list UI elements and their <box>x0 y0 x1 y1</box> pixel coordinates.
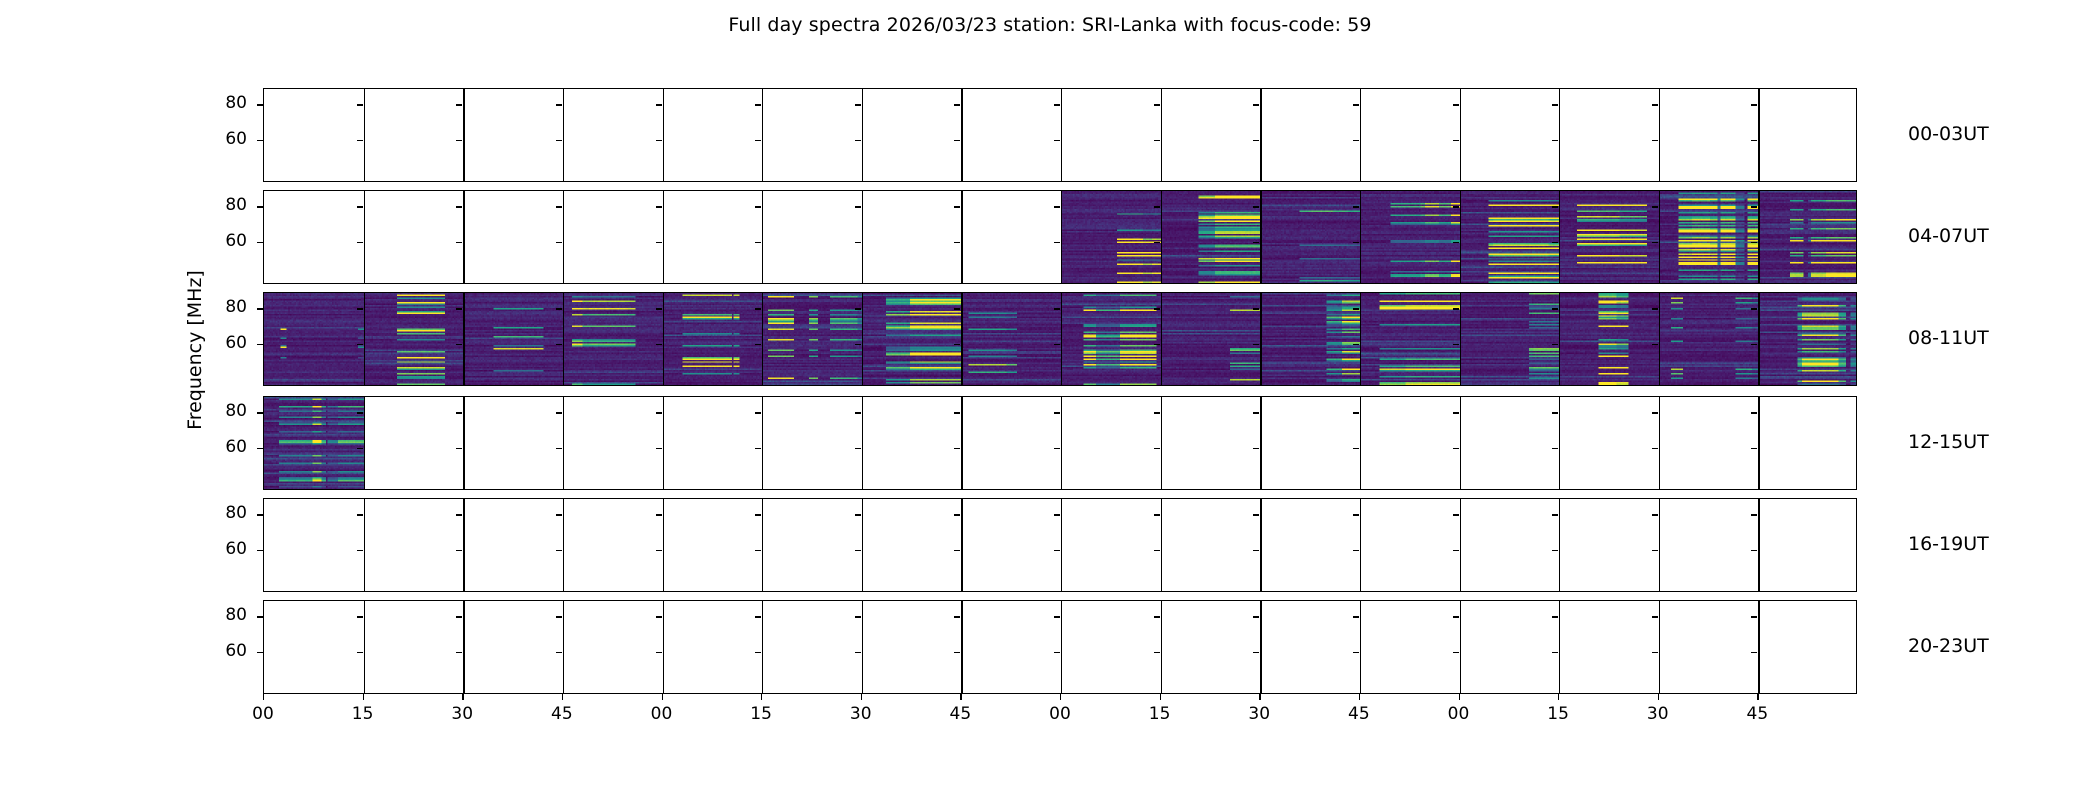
panel-minor-tick <box>755 514 761 515</box>
panel-minor-tick <box>357 652 363 653</box>
spectrogram-image <box>961 293 1061 385</box>
panel-minor-tick <box>1154 242 1160 243</box>
panel-minor-tick <box>456 104 462 105</box>
x-axis-tick-label: 15 <box>1137 704 1183 724</box>
x-axis-tick-label: 00 <box>1037 704 1083 724</box>
y-axis-tick-label: 60 <box>207 129 247 149</box>
panel-minor-tick <box>1652 344 1658 345</box>
x-axis-tick <box>263 694 264 700</box>
panel-divider <box>1659 191 1660 283</box>
panel-minor-tick <box>1054 652 1060 653</box>
panel-minor-tick <box>556 412 562 413</box>
spectrogram-row-20-23ut <box>263 600 1857 694</box>
panel-minor-tick <box>855 104 861 105</box>
panel-minor-tick <box>1154 514 1160 515</box>
panel-divider <box>762 191 763 283</box>
spectrogram-panel <box>1161 293 1261 385</box>
spectrogram-panel <box>663 293 763 385</box>
panel-minor-tick <box>456 242 462 243</box>
panel-minor-tick <box>954 344 960 345</box>
panel-divider <box>762 89 763 181</box>
panel-divider <box>1260 89 1261 181</box>
spectrogram-image <box>1659 191 1759 283</box>
panel-divider <box>1260 499 1261 591</box>
panel-minor-tick <box>456 550 462 551</box>
panel-minor-tick <box>1353 616 1359 617</box>
panel-minor-tick <box>1253 206 1259 207</box>
panel-minor-tick <box>357 514 363 515</box>
spectrogram-panel <box>264 397 364 489</box>
y-axis-tick-label: 80 <box>207 605 247 625</box>
spectrogram-panel <box>1061 293 1161 385</box>
panel-minor-tick <box>1453 412 1459 413</box>
x-axis-tick-label: 15 <box>738 704 784 724</box>
panel-minor-tick <box>656 206 662 207</box>
spectrogram-panel <box>1559 191 1659 283</box>
panel-minor-tick <box>556 140 562 141</box>
x-axis-tick-label: 30 <box>1236 704 1282 724</box>
panel-divider <box>961 397 962 489</box>
panel-minor-tick <box>1652 550 1658 551</box>
panel-divider <box>463 191 464 283</box>
panel-minor-tick <box>1353 550 1359 551</box>
panel-minor-tick <box>1751 550 1757 551</box>
spectrogram-panel <box>364 293 464 385</box>
panel-minor-tick <box>954 448 960 449</box>
panel-divider <box>663 293 664 385</box>
x-axis-tick <box>562 694 563 700</box>
y-axis-tick <box>257 652 263 653</box>
panel-minor-tick <box>1552 448 1558 449</box>
panel-minor-tick <box>1552 140 1558 141</box>
panel-divider <box>1460 293 1461 385</box>
panel-divider <box>1758 191 1759 283</box>
panel-divider <box>663 89 664 181</box>
panel-minor-tick <box>755 140 761 141</box>
panel-divider <box>862 397 863 489</box>
panel-minor-tick <box>954 652 960 653</box>
spectrogram-image <box>1758 293 1857 385</box>
panel-minor-tick <box>755 308 761 309</box>
panel-divider <box>463 89 464 181</box>
panel-minor-tick <box>1253 104 1259 105</box>
spectrogram-panel <box>1260 293 1360 385</box>
spectrogram-row-00-03ut <box>263 88 1857 182</box>
row-label-00-03ut: 00-03UT <box>1908 123 1989 145</box>
panel-divider <box>1460 601 1461 693</box>
row-plot-area <box>264 293 1856 385</box>
panel-divider <box>961 601 962 693</box>
y-axis-tick <box>257 308 263 309</box>
spectra-figure: Full day spectra 2026/03/23 station: SRI… <box>0 0 2100 800</box>
panel-divider <box>862 601 863 693</box>
panel-divider <box>1161 293 1162 385</box>
panel-minor-tick <box>755 206 761 207</box>
spectrogram-row-12-15ut <box>263 396 1857 490</box>
spectrogram-panel <box>1360 191 1460 283</box>
x-axis-tick <box>1160 694 1161 700</box>
panel-minor-tick <box>1353 242 1359 243</box>
panel-minor-tick <box>1054 308 1060 309</box>
spectrogram-row-04-07ut <box>263 190 1857 284</box>
panel-minor-tick <box>556 344 562 345</box>
panel-divider <box>762 293 763 385</box>
x-axis-tick-label: 15 <box>340 704 386 724</box>
spectrogram-panel <box>1360 293 1460 385</box>
panel-minor-tick <box>1353 140 1359 141</box>
panel-minor-tick <box>954 412 960 413</box>
spectrogram-image <box>1559 191 1659 283</box>
panel-minor-tick <box>1253 242 1259 243</box>
panel-minor-tick <box>357 412 363 413</box>
panel-divider <box>1360 89 1361 181</box>
panel-minor-tick <box>1453 104 1459 105</box>
panel-minor-tick <box>1552 242 1558 243</box>
row-plot-area <box>264 191 1856 283</box>
spectrogram-image <box>1061 293 1161 385</box>
panel-divider <box>862 89 863 181</box>
panel-minor-tick <box>1453 652 1459 653</box>
panel-divider <box>1161 499 1162 591</box>
panel-divider <box>1758 601 1759 693</box>
panel-minor-tick <box>855 616 861 617</box>
x-axis-tick-label: 00 <box>1436 704 1482 724</box>
panel-minor-tick <box>1154 652 1160 653</box>
panel-minor-tick <box>656 140 662 141</box>
panel-minor-tick <box>656 448 662 449</box>
spectrogram-panel <box>1559 293 1659 385</box>
spectrogram-image <box>264 397 364 489</box>
spectrogram-image <box>1559 293 1659 385</box>
panel-divider <box>1061 293 1062 385</box>
panel-minor-tick <box>456 616 462 617</box>
panel-divider <box>364 397 365 489</box>
panel-divider <box>563 397 564 489</box>
panel-minor-tick <box>1054 104 1060 105</box>
panel-divider <box>463 293 464 385</box>
panel-divider <box>364 89 365 181</box>
panel-minor-tick <box>656 344 662 345</box>
x-axis-tick <box>861 694 862 700</box>
x-axis-tick <box>1658 694 1659 700</box>
panel-minor-tick <box>1453 140 1459 141</box>
spectrogram-panel <box>1758 191 1857 283</box>
x-axis-tick <box>662 694 663 700</box>
panel-minor-tick <box>855 514 861 515</box>
panel-minor-tick <box>855 140 861 141</box>
panel-minor-tick <box>1154 344 1160 345</box>
panel-divider <box>862 499 863 591</box>
panel-minor-tick <box>357 242 363 243</box>
spectrogram-image <box>563 293 663 385</box>
panel-minor-tick <box>1552 344 1558 345</box>
panel-minor-tick <box>1453 550 1459 551</box>
panel-divider <box>1061 397 1062 489</box>
spectrogram-image <box>1758 191 1857 283</box>
panel-minor-tick <box>1751 344 1757 345</box>
panel-minor-tick <box>954 308 960 309</box>
panel-minor-tick <box>1751 514 1757 515</box>
panel-minor-tick <box>855 344 861 345</box>
panel-minor-tick <box>1054 448 1060 449</box>
panel-divider <box>1360 293 1361 385</box>
panel-minor-tick <box>1154 616 1160 617</box>
panel-minor-tick <box>357 206 363 207</box>
row-label-16-19ut: 16-19UT <box>1908 533 1989 555</box>
y-axis-tick <box>257 448 263 449</box>
panel-minor-tick <box>1154 104 1160 105</box>
panel-minor-tick <box>357 616 363 617</box>
x-axis-tick-label: 30 <box>439 704 485 724</box>
panel-minor-tick <box>456 448 462 449</box>
page-title: Full day spectra 2026/03/23 station: SRI… <box>0 14 2100 36</box>
panel-minor-tick <box>456 140 462 141</box>
panel-minor-tick <box>1154 308 1160 309</box>
panel-minor-tick <box>1253 616 1259 617</box>
y-axis-label-text: Frequency [MHz] <box>184 190 206 510</box>
spectrogram-image <box>463 293 563 385</box>
panel-minor-tick <box>656 308 662 309</box>
panel-divider <box>1360 397 1361 489</box>
panel-divider <box>1559 89 1560 181</box>
panel-minor-tick <box>1253 652 1259 653</box>
panel-minor-tick <box>1652 104 1658 105</box>
panel-minor-tick <box>1652 652 1658 653</box>
y-axis-tick-label: 60 <box>207 641 247 661</box>
panel-minor-tick <box>755 652 761 653</box>
panel-minor-tick <box>456 514 462 515</box>
panel-divider <box>563 89 564 181</box>
panel-minor-tick <box>954 514 960 515</box>
x-axis-tick-label: 00 <box>639 704 685 724</box>
x-axis-tick <box>1459 694 1460 700</box>
y-axis-tick <box>257 344 263 345</box>
panel-divider <box>1559 191 1560 283</box>
panel-divider <box>1659 89 1660 181</box>
panel-divider <box>463 397 464 489</box>
spectrogram-panel <box>563 293 663 385</box>
panel-minor-tick <box>1751 308 1757 309</box>
panel-divider <box>364 191 365 283</box>
spectrogram-image <box>264 293 364 385</box>
panel-divider <box>1460 191 1461 283</box>
spectrogram-image <box>1260 293 1360 385</box>
panel-minor-tick <box>556 308 562 309</box>
panel-minor-tick <box>1751 104 1757 105</box>
x-axis-tick <box>1259 694 1260 700</box>
panel-minor-tick <box>1253 308 1259 309</box>
panel-divider <box>1360 601 1361 693</box>
panel-minor-tick <box>1453 308 1459 309</box>
panel-minor-tick <box>1054 550 1060 551</box>
panel-minor-tick <box>755 616 761 617</box>
spectrogram-row-08-11ut <box>263 292 1857 386</box>
x-axis-tick-label: 30 <box>1635 704 1681 724</box>
panel-minor-tick <box>954 242 960 243</box>
panel-minor-tick <box>1751 652 1757 653</box>
panel-minor-tick <box>1253 412 1259 413</box>
panel-minor-tick <box>1353 412 1359 413</box>
panel-minor-tick <box>1751 412 1757 413</box>
panel-minor-tick <box>855 412 861 413</box>
panel-divider <box>364 601 365 693</box>
y-axis-tick <box>257 206 263 207</box>
panel-minor-tick <box>1751 206 1757 207</box>
panel-divider <box>961 89 962 181</box>
panel-minor-tick <box>1154 206 1160 207</box>
panel-minor-tick <box>1652 514 1658 515</box>
panel-divider <box>1161 191 1162 283</box>
panel-divider <box>1460 89 1461 181</box>
panel-divider <box>1260 397 1261 489</box>
panel-minor-tick <box>556 242 562 243</box>
y-axis-tick-label: 80 <box>207 503 247 523</box>
panel-minor-tick <box>1253 448 1259 449</box>
panel-minor-tick <box>1552 514 1558 515</box>
panel-minor-tick <box>1453 616 1459 617</box>
spectrogram-row-16-19ut <box>263 498 1857 592</box>
panel-divider <box>1659 293 1660 385</box>
spectrogram-image <box>663 293 763 385</box>
panel-minor-tick <box>755 550 761 551</box>
panel-divider <box>463 499 464 591</box>
y-axis-tick <box>257 412 263 413</box>
spectrogram-image <box>364 293 464 385</box>
panel-minor-tick <box>1253 550 1259 551</box>
spectrogram-panel <box>463 293 563 385</box>
panel-divider <box>663 499 664 591</box>
panel-minor-tick <box>357 308 363 309</box>
panel-divider <box>961 191 962 283</box>
panel-minor-tick <box>456 652 462 653</box>
panel-minor-tick <box>755 242 761 243</box>
panel-minor-tick <box>1652 616 1658 617</box>
panel-minor-tick <box>656 242 662 243</box>
spectrogram-panel <box>1758 293 1857 385</box>
panel-divider <box>1758 293 1759 385</box>
panel-divider <box>663 601 664 693</box>
panel-minor-tick <box>1154 448 1160 449</box>
spectrogram-panel <box>1161 191 1261 283</box>
x-axis-tick <box>1359 694 1360 700</box>
row-label-04-07ut: 04-07UT <box>1908 225 1989 247</box>
x-axis-tick-label: 00 <box>240 704 286 724</box>
panel-divider <box>1061 191 1062 283</box>
panel-divider <box>961 499 962 591</box>
y-axis-tick-label: 60 <box>207 231 247 251</box>
panel-minor-tick <box>1552 550 1558 551</box>
panel-minor-tick <box>656 616 662 617</box>
panel-minor-tick <box>1453 344 1459 345</box>
spectrogram-panel <box>1460 191 1560 283</box>
panel-minor-tick <box>1154 550 1160 551</box>
panel-minor-tick <box>1353 344 1359 345</box>
spectrogram-image <box>1161 293 1261 385</box>
panel-minor-tick <box>1652 140 1658 141</box>
panel-divider <box>1161 397 1162 489</box>
panel-minor-tick <box>456 308 462 309</box>
panel-divider <box>762 601 763 693</box>
y-axis-tick-label: 80 <box>207 93 247 113</box>
panel-minor-tick <box>556 652 562 653</box>
panel-minor-tick <box>855 242 861 243</box>
spectrogram-image <box>1659 293 1759 385</box>
x-axis-tick <box>1558 694 1559 700</box>
panel-minor-tick <box>1552 206 1558 207</box>
panel-minor-tick <box>954 550 960 551</box>
panel-divider <box>1559 499 1560 591</box>
panel-divider <box>1559 293 1560 385</box>
panel-minor-tick <box>1054 412 1060 413</box>
panel-minor-tick <box>1751 242 1757 243</box>
spectrogram-image <box>1061 191 1161 283</box>
x-axis-tick <box>1757 694 1758 700</box>
panel-minor-tick <box>556 616 562 617</box>
spectrogram-panel <box>1460 293 1560 385</box>
panel-minor-tick <box>656 104 662 105</box>
panel-minor-tick <box>755 448 761 449</box>
y-axis-tick-label: 80 <box>207 297 247 317</box>
panel-minor-tick <box>954 140 960 141</box>
panel-divider <box>1659 601 1660 693</box>
panel-divider <box>1559 397 1560 489</box>
panel-divider <box>862 191 863 283</box>
panel-minor-tick <box>855 308 861 309</box>
panel-minor-tick <box>1253 140 1259 141</box>
panel-minor-tick <box>1552 652 1558 653</box>
panel-minor-tick <box>1054 616 1060 617</box>
panel-minor-tick <box>755 412 761 413</box>
panel-divider <box>563 293 564 385</box>
panel-minor-tick <box>1353 206 1359 207</box>
row-label-20-23ut: 20-23UT <box>1908 635 1989 657</box>
spectrogram-panel <box>264 293 364 385</box>
y-axis-tick-label: 60 <box>207 333 247 353</box>
panel-minor-tick <box>954 616 960 617</box>
row-plot-area <box>264 499 1856 591</box>
panel-divider <box>1161 601 1162 693</box>
panel-minor-tick <box>1453 242 1459 243</box>
panel-divider <box>1360 191 1361 283</box>
spectrogram-panel <box>1061 191 1161 283</box>
panel-divider <box>1460 499 1461 591</box>
panel-divider <box>1559 601 1560 693</box>
panel-divider <box>1758 89 1759 181</box>
panel-minor-tick <box>357 140 363 141</box>
x-axis-tick-label: 30 <box>838 704 884 724</box>
x-axis-tick-label: 45 <box>937 704 983 724</box>
panel-divider <box>1260 601 1261 693</box>
y-axis-tick <box>257 242 263 243</box>
panel-minor-tick <box>1353 308 1359 309</box>
panel-minor-tick <box>1652 448 1658 449</box>
panel-minor-tick <box>855 448 861 449</box>
panel-divider <box>1061 89 1062 181</box>
panel-minor-tick <box>1652 242 1658 243</box>
panel-minor-tick <box>1552 616 1558 617</box>
panel-minor-tick <box>656 514 662 515</box>
panel-minor-tick <box>1353 104 1359 105</box>
panel-divider <box>563 601 564 693</box>
panel-divider <box>1659 397 1660 489</box>
panel-divider <box>1061 499 1062 591</box>
y-axis-tick-label: 80 <box>207 195 247 215</box>
panel-minor-tick <box>755 104 761 105</box>
spectrogram-panel <box>1659 293 1759 385</box>
panel-minor-tick <box>357 448 363 449</box>
spectrogram-image <box>1260 191 1360 283</box>
y-axis-tick-label: 60 <box>207 539 247 559</box>
